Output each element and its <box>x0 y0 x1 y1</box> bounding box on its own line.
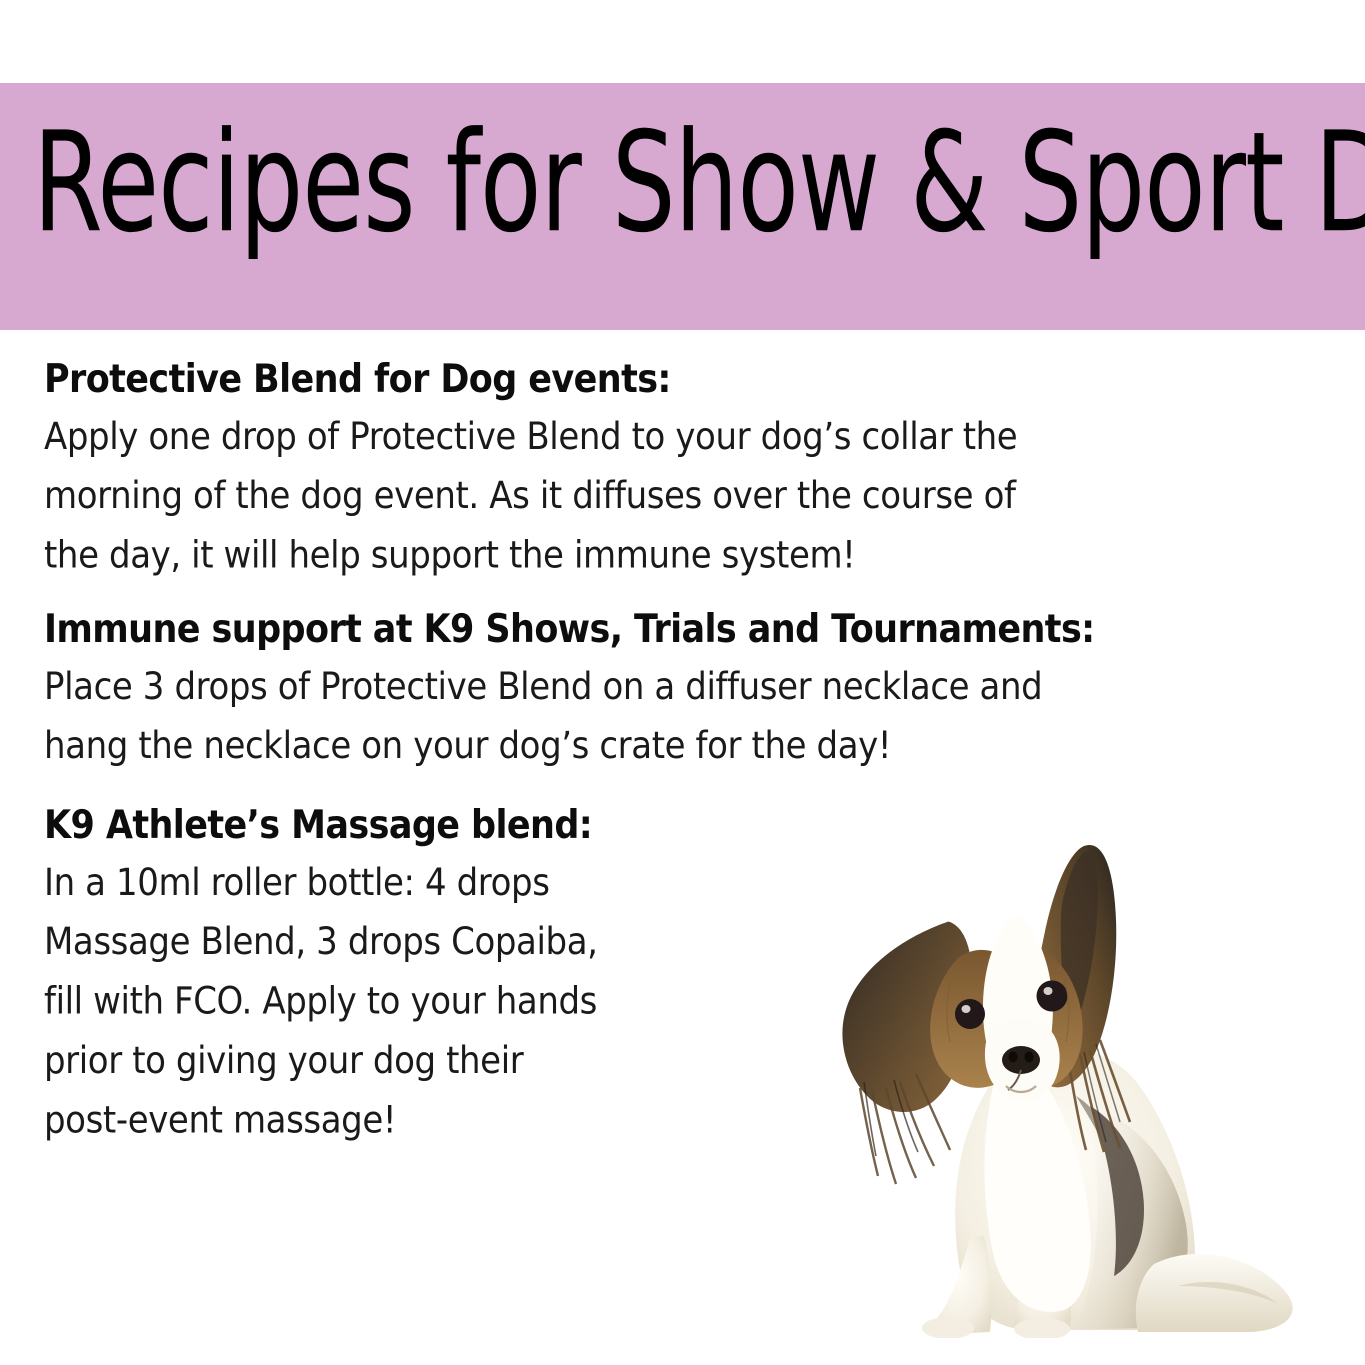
body-line: Massage Blend, 3 drops Copaiba, <box>44 912 784 971</box>
dog-tail <box>1136 1254 1293 1332</box>
recipe-section-massage-blend: K9 Athlete’s Massage blend: In a 10ml ro… <box>44 801 1284 1123</box>
body-line: morning of the dog event. As it diffuses… <box>44 466 1284 525</box>
body-line: Place 3 drops of Protective Blend on a d… <box>44 657 1284 716</box>
section-body: Apply one drop of Protective Blend to yo… <box>44 407 1284 585</box>
section-heading: K9 Athlete’s Massage blend: <box>44 801 1284 850</box>
body-line: post-event massage! <box>44 1091 784 1150</box>
recipe-section-immune-support: Immune support at K9 Shows, Trials and T… <box>44 605 1284 765</box>
body-line: Apply one drop of Protective Blend to yo… <box>44 407 1284 466</box>
recipes-content: Protective Blend for Dog events: Apply o… <box>44 355 1284 1123</box>
section-body: Place 3 drops of Protective Blend on a d… <box>44 657 1284 776</box>
body-line: hang the necklace on your dog’s crate fo… <box>44 716 1284 775</box>
body-line: prior to giving your dog their <box>44 1031 784 1090</box>
recipe-section-protective-blend: Protective Blend for Dog events: Apply o… <box>44 355 1284 569</box>
page-title: Recipes for Show & Sport Dogs <box>33 115 1365 253</box>
section-heading: Protective Blend for Dog events: <box>44 355 1284 404</box>
dog-legs <box>922 1236 1071 1338</box>
body-line: the day, it will help support the immune… <box>44 526 1284 585</box>
body-line: In a 10ml roller bottle: 4 drops <box>44 853 784 912</box>
section-body: In a 10ml roller bottle: 4 drops Massage… <box>44 853 784 1150</box>
body-line: fill with FCO. Apply to your hands <box>44 972 784 1031</box>
header-banner: Recipes for Show & Sport Dogs <box>0 83 1365 330</box>
section-heading: Immune support at K9 Shows, Trials and T… <box>44 605 1284 654</box>
